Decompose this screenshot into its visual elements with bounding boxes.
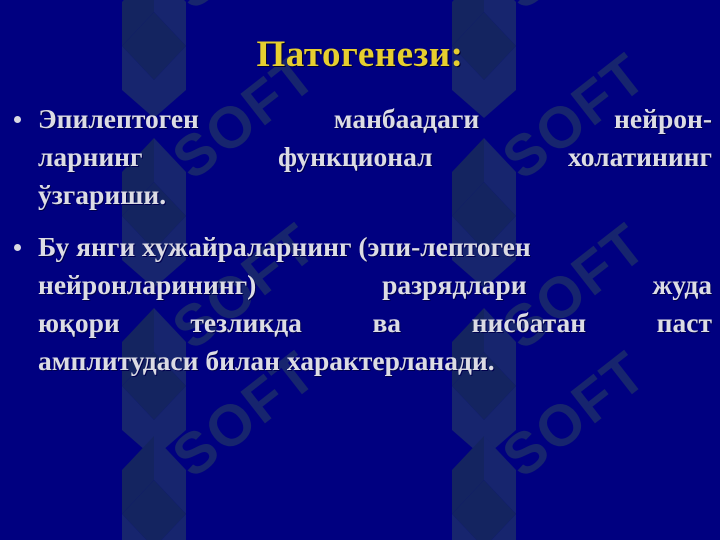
list-item-text: Эпилептоген манбаадаги нейрон- ларнинг ф… bbox=[38, 100, 712, 214]
list-item: Эпилептоген манбаадаги нейрон- ларнинг ф… bbox=[6, 100, 712, 214]
text-line: юқори тезликда ва нисбатан паст bbox=[38, 304, 712, 342]
list-item: Бу янги хужайраларнинг (эпи-лептоген ней… bbox=[6, 228, 712, 380]
bullet-dot-icon bbox=[14, 116, 21, 123]
text-line: ўзгариши. bbox=[38, 176, 712, 214]
list-item-text: Бу янги хужайраларнинг (эпи-лептоген ней… bbox=[38, 228, 712, 380]
presentation-slide: SOFTSOFTSOFTSOFTSOFTSOFTSOFTSOFT Патоген… bbox=[0, 0, 720, 540]
bullet-list: Эпилептоген манбаадаги нейрон- ларнинг ф… bbox=[6, 100, 712, 380]
text-line: ларнинг функционал холатининг bbox=[38, 138, 712, 176]
text-line: нейронларининг) разрядлари жуда bbox=[38, 266, 712, 304]
page-title: Патогенези: bbox=[0, 33, 720, 77]
text-line: амплитудаси билан характерланади. bbox=[38, 342, 712, 380]
slide-content: Патогенези: Эпилептоген манбаадаги нейро… bbox=[0, 0, 720, 540]
text-line: Бу янги хужайраларнинг (эпи-лептоген bbox=[38, 228, 712, 266]
text-line: Эпилептоген манбаадаги нейрон- bbox=[38, 100, 712, 138]
bullet-dot-icon bbox=[14, 244, 21, 251]
